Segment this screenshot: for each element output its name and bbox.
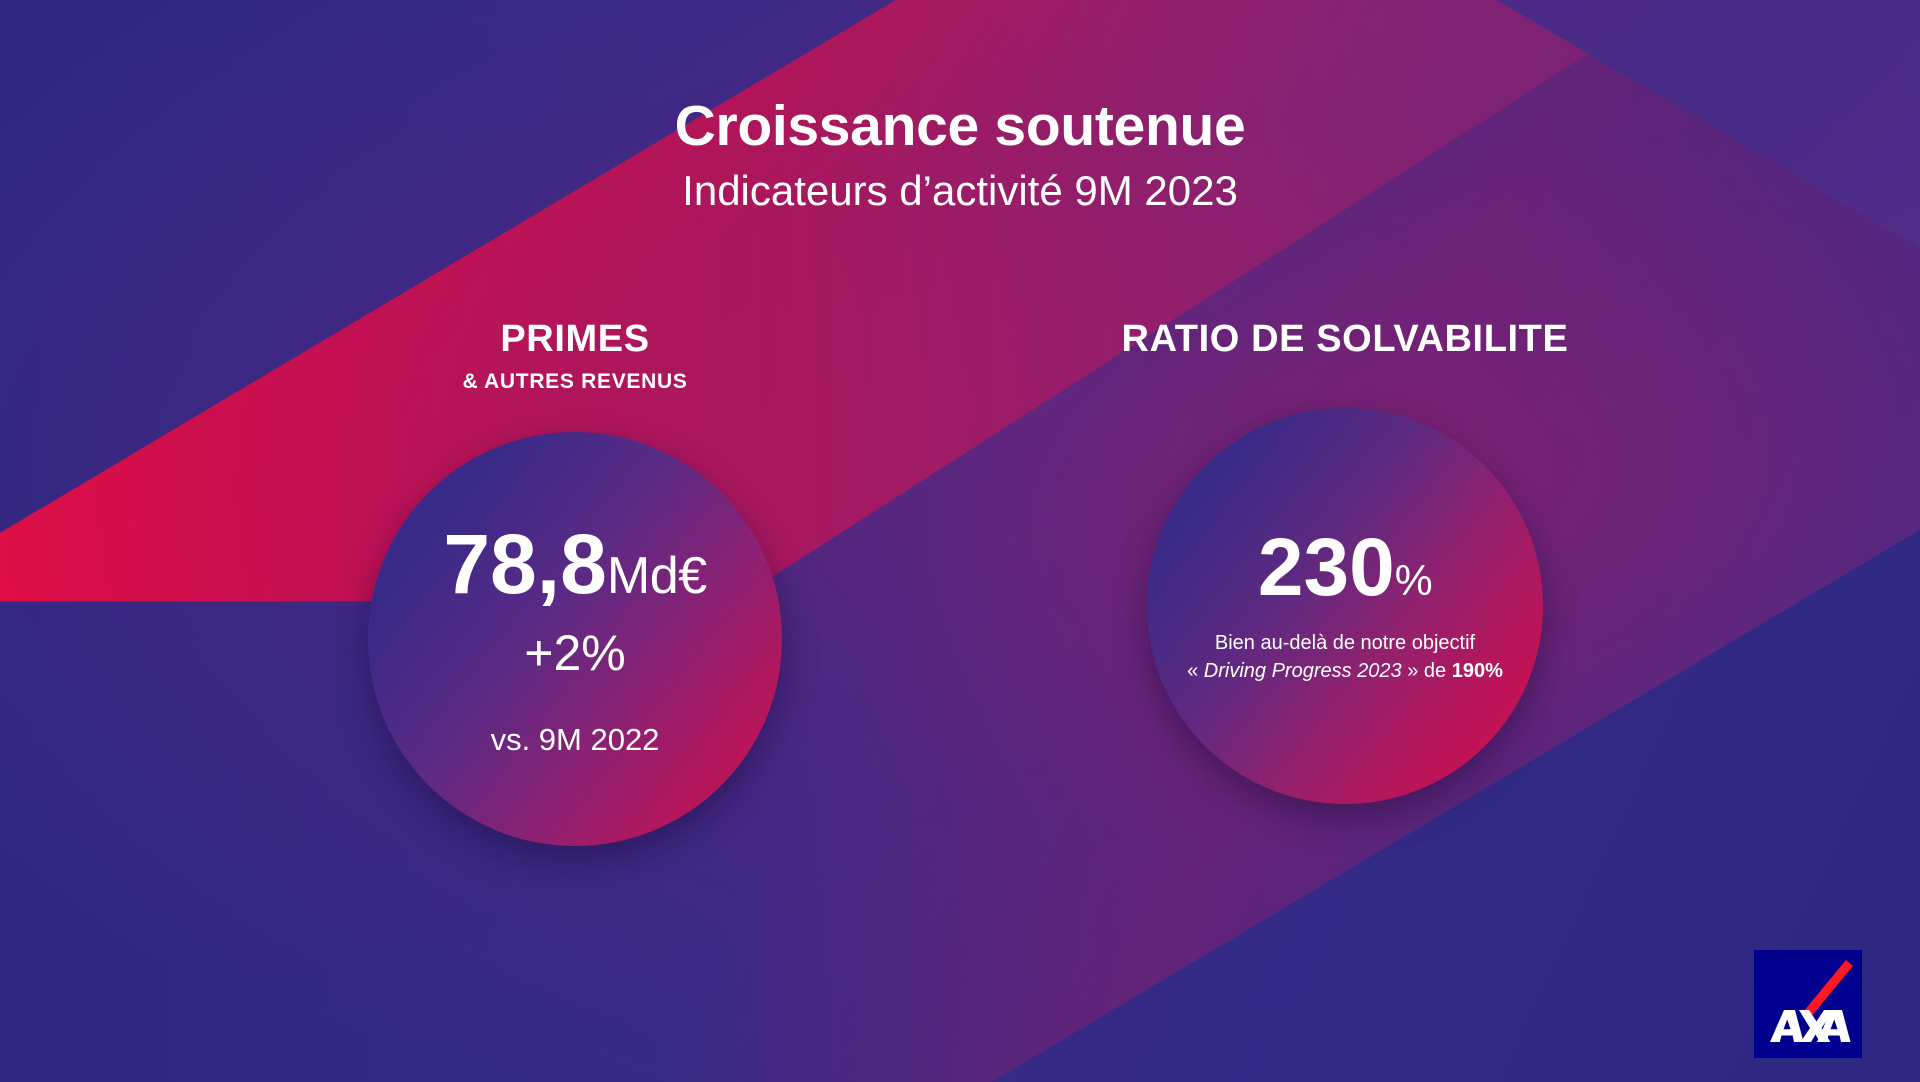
metric-value-unit: % bbox=[1395, 557, 1432, 605]
axa-logo-icon bbox=[1754, 950, 1862, 1058]
metric-label-primes: PRIMES bbox=[500, 320, 649, 360]
metric-comparison-primes: vs. 9M 2022 bbox=[491, 724, 660, 755]
metric-value-number: 78,8 bbox=[443, 517, 607, 611]
metric-delta-primes: +2% bbox=[524, 628, 625, 678]
metrics-row: PRIMES & AUTRES REVENUS 78,8Md€ +2% vs. … bbox=[0, 320, 1920, 846]
metric-value-number: 230 bbox=[1258, 522, 1395, 613]
page-title: Croissance soutenue bbox=[0, 96, 1920, 156]
slide-canvas: Croissance soutenue Indicateurs d’activi… bbox=[0, 0, 1920, 1082]
page-subtitle: Indicateurs d’activité 9M 2023 bbox=[0, 168, 1920, 214]
metric-value-solvabilite: 230% bbox=[1258, 527, 1432, 609]
metric-column-solvabilite: RATIO DE SOLVABILITE 230% Bien au-delà d… bbox=[1015, 320, 1675, 846]
metric-value-unit: Md€ bbox=[607, 547, 707, 605]
metric-column-primes: PRIMES & AUTRES REVENUS 78,8Md€ +2% vs. … bbox=[245, 320, 905, 846]
metric-note-line1: Bien au-delà de notre objectif bbox=[1215, 632, 1475, 654]
slide-header: Croissance soutenue Indicateurs d’activi… bbox=[0, 96, 1920, 215]
metric-note-program: Driving Progress 2023 bbox=[1204, 660, 1402, 682]
metric-sublabel-primes: & AUTRES REVENUS bbox=[462, 370, 687, 394]
metric-note-quote-close: » de bbox=[1402, 660, 1452, 682]
metric-circle-solvabilite: 230% Bien au-delà de notre objectif « Dr… bbox=[1147, 408, 1543, 804]
metric-label-solvabilite: RATIO DE SOLVABILITE bbox=[1122, 320, 1569, 360]
axa-logo bbox=[1754, 950, 1862, 1058]
metric-note-quote-open: « bbox=[1187, 660, 1204, 682]
metric-circle-primes: 78,8Md€ +2% vs. 9M 2022 bbox=[368, 432, 782, 846]
metric-note-target: 190% bbox=[1452, 660, 1503, 682]
metric-value-primes: 78,8Md€ bbox=[443, 522, 706, 606]
metric-note-solvabilite: Bien au-delà de notre objectif « Driving… bbox=[1187, 629, 1503, 686]
